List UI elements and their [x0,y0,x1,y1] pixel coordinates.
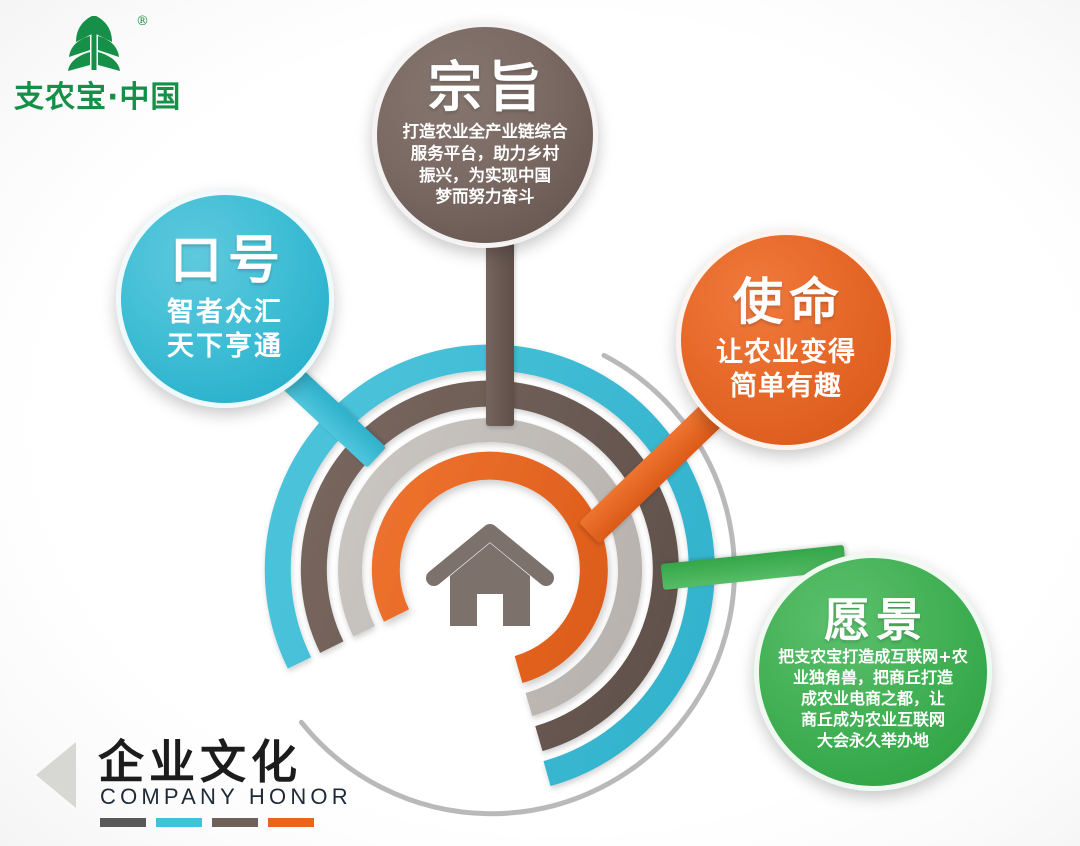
left-triangle-icon [36,742,76,808]
bubble-purpose-line-1: 打造农业全产业链综合 [403,121,568,143]
swatch-gray [100,818,146,827]
registered-mark: ® [136,14,149,29]
bubble-vision-line-3: 成农业电商之都，让 [778,689,967,710]
bubble-mission-body: 让农业变得 简单有趣 [706,336,866,404]
swatch-cyan [156,818,202,827]
logo-wordmark: 支农宝·中国 [14,72,214,116]
bubble-vision[interactable]: 愿景 把支农宝打造成互联网+农 业独角兽，把商丘打造 成农业电商之都，让 商丘成… [754,553,992,791]
bubble-purpose-line-3: 振兴，为实现中国 [403,165,568,187]
swatch-brown [212,818,258,827]
footer-title-block: 企业文化 COMPANY HONOR [36,722,456,832]
footer-color-swatches [100,818,314,827]
bubble-vision-line-2: 业独角兽，把商丘打造 [778,668,967,689]
company-logo: ® 支农宝·中国 [14,10,214,110]
bubble-slogan-line-1: 智者众汇 [167,296,283,330]
connector-purpose [486,238,514,426]
bubble-vision-line-1: 把支农宝打造成互联网+农 [778,647,967,668]
bubble-purpose[interactable]: 宗旨 打造农业全产业链综合 服务平台，助力乡村 振兴，为实现中国 梦而努力奋斗 [372,22,598,248]
bubble-mission-line-1: 让农业变得 [716,336,856,370]
swatch-orange [268,818,314,827]
bubble-purpose-line-4: 梦而努力奋斗 [403,186,568,208]
home-icon [434,532,546,626]
bubble-vision-title: 愿景 [818,597,928,644]
bubble-vision-line-4: 商丘成为农业互联网 [778,710,967,731]
bubble-slogan-line-2: 天下亨通 [167,330,283,364]
bubble-mission-title: 使命 [727,277,845,328]
footer-title-cn: 企业文化 [98,726,302,792]
bubble-vision-line-5: 大会永久举办地 [778,731,967,752]
bubble-purpose-line-2: 服务平台，助力乡村 [403,143,568,165]
bubble-purpose-title: 宗旨 [422,60,548,115]
wheat-leaf-emblem-icon [46,12,142,74]
footer-title-en: COMPANY HONOR [100,784,352,810]
bubble-slogan-title: 口号 [164,235,286,288]
bubble-slogan[interactable]: 口号 智者众汇 天下亨通 [116,190,334,408]
bubble-mission[interactable]: 使命 让农业变得 简单有趣 [676,230,896,450]
bubble-mission-line-2: 简单有趣 [716,370,856,404]
poster-canvas: ® 支农宝·中国 [0,0,1080,846]
bubble-purpose-body: 打造农业全产业链综合 服务平台，助力乡村 振兴，为实现中国 梦而努力奋斗 [393,121,578,209]
bubble-slogan-body: 智者众汇 天下亨通 [157,296,293,364]
bubble-vision-body: 把支农宝打造成互联网+农 业独角兽，把商丘打造 成农业电商之都，让 商丘成为农业… [768,647,977,751]
